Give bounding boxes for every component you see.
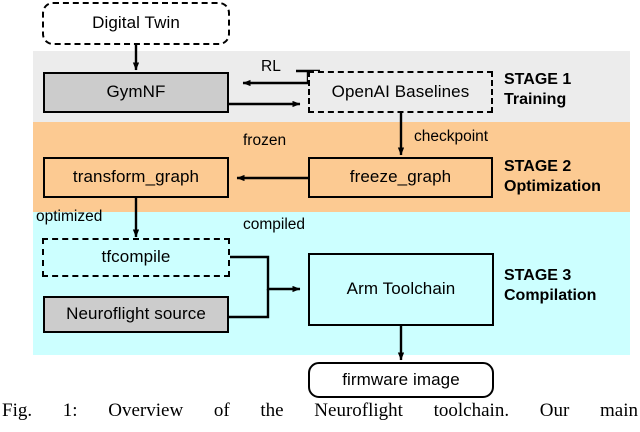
node-tfcompile[interactable]: tfcompile (42, 238, 230, 277)
node-openai-baselines-label: OpenAI Baselines (332, 83, 470, 102)
edge-label-checkpoint: checkpoint (414, 128, 488, 146)
node-neuroflight-source-label: Neuroflight source (66, 305, 206, 324)
node-freeze-graph[interactable]: freeze_graph (308, 157, 493, 198)
stage-1-name: STAGE 1 (504, 70, 571, 90)
stage-2-subtitle: Optimization (504, 177, 601, 197)
node-transform-graph-label: transform_graph (73, 168, 199, 187)
node-gymnf-label: GymNF (106, 83, 165, 102)
edge-label-compiled: compiled (243, 216, 305, 234)
stage-label-optimization: STAGE 2 Optimization (504, 157, 601, 196)
figure-caption: Fig. 1: Overview of the Neuroflight tool… (2, 400, 638, 422)
toolchain-diagram: Digital Twin GymNF OpenAI Baselines tran… (0, 0, 640, 432)
node-firmware-image-label: firmware image (342, 371, 460, 390)
node-transform-graph[interactable]: transform_graph (43, 157, 229, 198)
node-arm-toolchain[interactable]: Arm Toolchain (308, 253, 494, 326)
stage-label-compilation: STAGE 3 Compilation (504, 266, 596, 305)
node-digital-twin-label: Digital Twin (92, 14, 180, 33)
node-tfcompile-label: tfcompile (102, 248, 171, 267)
stage-1-subtitle: Training (504, 90, 571, 110)
edge-label-optimized: optimized (36, 208, 102, 226)
node-arm-toolchain-label: Arm Toolchain (347, 280, 456, 299)
stage-2-name: STAGE 2 (504, 157, 601, 177)
edge-label-rl: RL (261, 58, 281, 76)
node-firmware-image[interactable]: firmware image (308, 362, 494, 398)
stage-3-subtitle: Compilation (504, 286, 596, 306)
stage-label-training: STAGE 1 Training (504, 70, 571, 109)
node-freeze-graph-label: freeze_graph (350, 168, 451, 187)
node-digital-twin[interactable]: Digital Twin (42, 2, 230, 45)
stage-3-name: STAGE 3 (504, 266, 596, 286)
node-gymnf[interactable]: GymNF (43, 72, 229, 113)
edge-label-frozen: frozen (243, 132, 286, 150)
node-openai-baselines[interactable]: OpenAI Baselines (308, 71, 493, 113)
node-neuroflight-source[interactable]: Neuroflight source (43, 296, 229, 333)
